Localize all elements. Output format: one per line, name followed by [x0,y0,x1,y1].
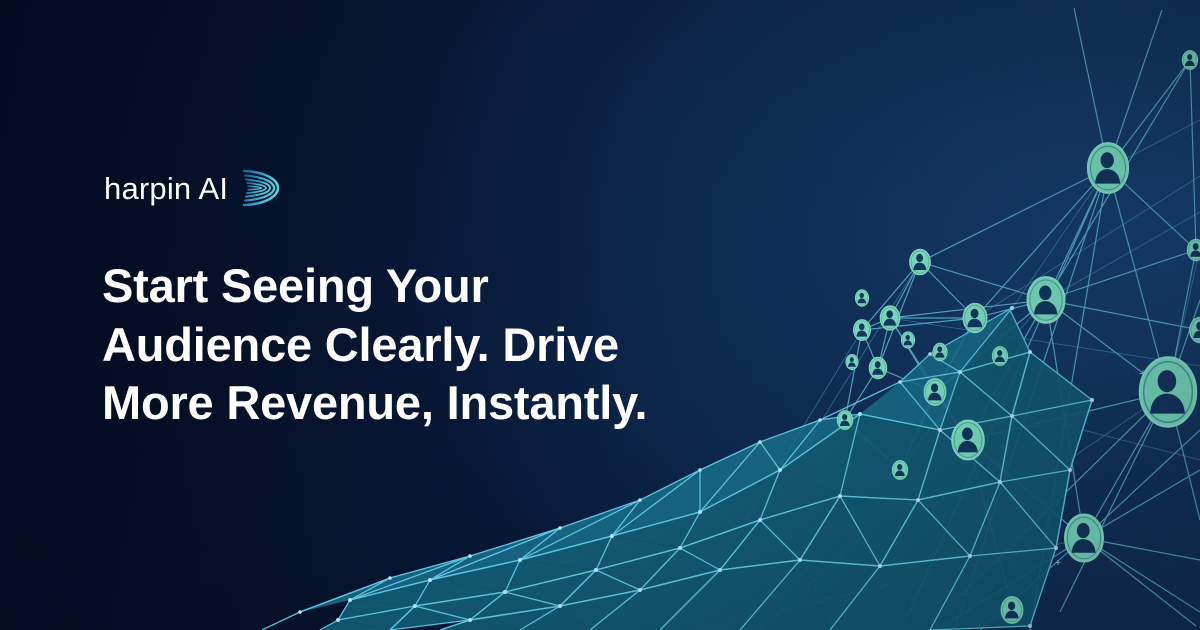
headline-line-1: Start Seeing Your [102,257,742,315]
headline-line-3: More Revenue, Instantly. [102,374,742,432]
headline: Start Seeing Your Audience Clearly. Driv… [102,257,742,432]
brand-wordmark: harpin AI [104,173,228,204]
brand-lockup[interactable]: harpin AI [104,166,281,210]
hero-banner: harpin AI Start Seeing Your Audience Cle… [0,0,1200,630]
node-tick-marks [1056,170,1147,565]
harpin-arc-mark-icon [237,168,281,208]
headline-line-2: Audience Clearly. Drive [102,316,742,374]
